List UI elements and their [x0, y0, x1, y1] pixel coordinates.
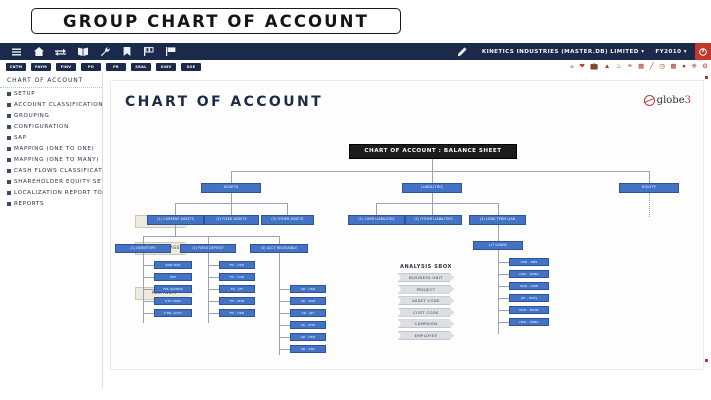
- app-root: GROUP CHART OF ACCOUNT: [0, 0, 711, 400]
- bullet-square-icon: [7, 136, 11, 140]
- sidebar-item-setup[interactable]: SETUP: [0, 88, 102, 99]
- sidebar-item-configuration[interactable]: CONFIGURATION: [0, 121, 102, 132]
- node-long-term-liab[interactable]: (3) LONG TERM LIAB: [469, 215, 526, 225]
- connector: [143, 253, 144, 261]
- connector: [143, 236, 144, 244]
- connector: [208, 236, 209, 244]
- grid-icon[interactable]: ▦: [638, 64, 644, 71]
- node-ar-myr[interactable]: AR - MYR: [290, 321, 326, 329]
- module-tab-paym[interactable]: PAYM: [31, 63, 51, 72]
- connector: [287, 203, 288, 215]
- connector: [208, 265, 219, 266]
- bullet-square-icon: [7, 125, 11, 129]
- analysis-chip-campaign[interactable]: CAMPAIGN: [398, 319, 454, 328]
- connector-dotted: [649, 193, 650, 217]
- node-fd-jpy[interactable]: FD - JPY: [219, 285, 255, 293]
- analysis-chip-asset-code[interactable]: ASSET CODE: [398, 296, 454, 305]
- sidebar-item-grouping[interactable]: GROUPING: [0, 110, 102, 121]
- sidebar-item-account-classification[interactable]: ACCOUNT CLASSIFICATION: [0, 99, 102, 110]
- node-fd-myr[interactable]: FD - MYR: [219, 297, 255, 305]
- bullet-square-icon: [7, 114, 11, 118]
- connector: [432, 171, 433, 183]
- node-ctrl-acct[interactable]: CTRL ACCT: [154, 309, 192, 317]
- connector: [231, 171, 232, 183]
- home-icon[interactable]: [33, 46, 44, 57]
- bullet-square-icon: [7, 158, 11, 162]
- connector: [279, 325, 290, 326]
- node-acct-receivable[interactable]: (3) ACCT RECEIVABLE: [250, 244, 308, 253]
- connector: [498, 250, 499, 258]
- node-hkd-hsbc[interactable]: HKD - HSBC: [509, 318, 549, 326]
- wrench-icon[interactable]: [99, 46, 110, 57]
- tree-icon[interactable]: ▲: [604, 64, 610, 71]
- bullet-square-icon: [7, 180, 11, 184]
- sidebar-item-label: LOCALIZATION REPORT TOOL: [14, 190, 102, 196]
- sidebar-item-label: SETUP: [14, 91, 35, 97]
- link-icon[interactable]: ⚭: [627, 64, 632, 71]
- logo-word: globe: [657, 95, 685, 106]
- briefcase-icon[interactable]: 💼: [590, 64, 598, 71]
- node-fd-sgd[interactable]: FD - SGD: [219, 273, 255, 281]
- sidebar-item-mapping-one-to-one[interactable]: MAPPING (ONE TO ONE): [0, 143, 102, 154]
- node-wip[interactable]: WIP: [154, 273, 192, 281]
- connector: [143, 301, 154, 302]
- connector: [208, 277, 219, 278]
- sidebar-item-label: SAP: [14, 135, 27, 141]
- page-banner: GROUP CHART OF ACCOUNT: [0, 0, 711, 42]
- connector: [279, 285, 280, 355]
- bullet-square-icon: [7, 169, 11, 173]
- node-lt-loans[interactable]: L/T LOANS: [473, 241, 523, 250]
- flag-icon[interactable]: [165, 46, 176, 57]
- node-sgd-uob[interactable]: SGD - UOB: [509, 282, 549, 290]
- connector: [498, 203, 499, 215]
- logo-text: globe3: [657, 95, 691, 106]
- analysis-sbox-panel: ANALYSIS SBOX BUSINESS UNIT PROJECT ASSE…: [398, 264, 454, 343]
- quick-tool-icon-row: ◆ ❤ 💼 ▲ ♨ ⚭ ▦ ╱ ◷ ▦ ● ⎈ ⚙: [570, 61, 708, 73]
- connector: [279, 337, 290, 338]
- node-fd-usd[interactable]: FD - USD: [219, 261, 255, 269]
- sidebar-item-reports[interactable]: REPORTS: [0, 198, 102, 209]
- sidebar-title: CHART OF ACCOUNT: [0, 73, 102, 88]
- sidebar-item-shareholder-equity-setup[interactable]: SHAREHOLDER EQUITY SETUP: [0, 176, 102, 187]
- module-tab-cntm[interactable]: CNTM: [6, 63, 26, 72]
- chart-canvas: CHART OF ACCOUNT globe3 ACCT TYPE ACCT C…: [110, 80, 704, 370]
- analysis-chip-cost-code[interactable]: COST CODE: [398, 308, 454, 317]
- connector: [231, 171, 649, 172]
- company-name-text: KINETICS INDUSTRIES (MASTER.DB) LIMITED: [482, 49, 639, 55]
- top-navigation-bar: KINETICS INDUSTRIES (MASTER.DB) LIMITED …: [0, 43, 711, 60]
- chart-line-icon[interactable]: ╱: [650, 64, 654, 71]
- connector: [279, 301, 290, 302]
- power-logout-button[interactable]: [695, 43, 711, 60]
- bookmark-icon[interactable]: [121, 46, 132, 57]
- node-assets[interactable]: ASSETS: [201, 183, 261, 193]
- node-myr-mayb[interactable]: MYR - MAYB: [509, 306, 549, 314]
- connector: [498, 262, 509, 263]
- sidebar-item-label: MAPPING (ONE TO ONE): [14, 146, 94, 152]
- module-tab-sinv[interactable]: SINV: [156, 63, 176, 72]
- node-fixed-assets[interactable]: (2) FIXED ASSETS: [204, 215, 259, 225]
- node-fd-hkd[interactable]: FD - HKD: [219, 309, 255, 317]
- sidebar-item-label: GROUPING: [14, 113, 49, 119]
- connector: [498, 322, 509, 323]
- connector: [175, 225, 176, 236]
- node-liabilities[interactable]: LIABILITIES: [402, 183, 462, 193]
- connector: [498, 298, 509, 299]
- sidebar-item-label: CASH FLOWS CLASSIFICATIO: [14, 168, 102, 174]
- pin-icon[interactable]: ●: [682, 64, 686, 71]
- connector: [143, 236, 279, 237]
- connector: [432, 159, 433, 171]
- module-tab-finv[interactable]: FINV: [56, 63, 76, 72]
- connector: [432, 203, 433, 215]
- connector: [208, 253, 209, 261]
- analysis-sbox-title: ANALYSIS SBOX: [398, 264, 454, 270]
- book-icon[interactable]: [77, 46, 88, 57]
- connector: [279, 236, 280, 244]
- node-other-liabilities[interactable]: (2) OTHER LIABILITIES: [405, 215, 462, 225]
- connector: [498, 310, 509, 311]
- module-tab-soe[interactable]: SOE: [181, 63, 201, 72]
- fire-icon[interactable]: ♨: [616, 64, 622, 71]
- connector: [143, 313, 154, 314]
- sidebar-item-label: CONFIGURATION: [14, 124, 69, 130]
- analysis-chip-project[interactable]: PROJECT: [398, 285, 454, 294]
- chat-icon[interactable]: ⎈: [691, 64, 696, 71]
- left-sidebar: CHART OF ACCOUNT SETUP ACCOUNT CLASSIFIC…: [0, 73, 103, 388]
- logo-number: 3: [685, 95, 691, 106]
- node-inventory[interactable]: (1) INVENTORY: [115, 244, 171, 253]
- fiscal-year-text: FY2010: [655, 49, 681, 55]
- connector: [208, 313, 219, 314]
- bullet-square-icon: [7, 191, 11, 195]
- connector: [231, 203, 232, 215]
- connector: [279, 253, 280, 285]
- diamond-icon[interactable]: ◆: [570, 65, 574, 70]
- pencil-icon[interactable]: [457, 46, 468, 57]
- connector: [498, 286, 509, 287]
- node-fixed-deposit[interactable]: (2) FIXED DEPOSIT: [180, 244, 236, 253]
- flag-outline-icon[interactable]: [143, 46, 154, 57]
- node-ar-jpy[interactable]: AR - JPY: [290, 309, 326, 317]
- module-tab-po[interactable]: PO: [81, 63, 101, 72]
- connector: [432, 193, 433, 203]
- analysis-chip-business-unit[interactable]: BUSINESS UNIT: [398, 273, 454, 282]
- connector: [143, 277, 154, 278]
- sidebar-item-cash-flows-classification[interactable]: CASH FLOWS CLASSIFICATIO: [0, 165, 102, 176]
- node-equity[interactable]: EQUITY: [619, 183, 679, 193]
- sidebar-item-label: SHAREHOLDER EQUITY SETUP: [14, 179, 102, 185]
- connector: [498, 274, 509, 275]
- node-stk-adjm[interactable]: STK ADJM: [154, 297, 192, 305]
- sidebar-item-label: MAPPING (ONE TO MANY): [14, 157, 99, 163]
- node-ar-sgd[interactable]: AR - SGD: [290, 297, 326, 305]
- node-raw-mat[interactable]: RAW MAT: [154, 261, 192, 269]
- globe3-logo: globe3: [644, 95, 691, 106]
- bullet-square-icon: [7, 147, 11, 151]
- sidebar-item-sap[interactable]: SAP: [0, 132, 102, 143]
- node-balance-sheet-root[interactable]: CHART OF ACCOUNT : BALANCE SHEET: [349, 144, 517, 159]
- connector: [208, 301, 219, 302]
- transfer-icon[interactable]: [55, 46, 66, 57]
- connector: [376, 203, 498, 204]
- module-tab-sral[interactable]: SRAL: [131, 63, 151, 72]
- scroll-marker[interactable]: [705, 76, 708, 79]
- connector: [208, 289, 219, 290]
- connector: [376, 203, 377, 215]
- gear-icon[interactable]: ⚙: [702, 64, 708, 71]
- node-ar-hkd[interactable]: AR - HKD: [290, 333, 326, 341]
- menu-icon[interactable]: [11, 46, 22, 57]
- node-usd-dbs[interactable]: USD - DBS: [509, 258, 549, 266]
- analysis-chip-employee[interactable]: EMPLOYEE: [398, 331, 454, 340]
- banner-frame: GROUP CHART OF ACCOUNT: [31, 8, 401, 34]
- module-tab-pr[interactable]: PR: [106, 63, 126, 72]
- heart-icon[interactable]: ❤: [579, 64, 584, 71]
- connector: [279, 313, 290, 314]
- node-jpy-mufj[interactable]: JPY - MUFJ: [509, 294, 549, 302]
- node-usd-ocbc[interactable]: USD - OCBC: [509, 270, 549, 278]
- connector: [498, 225, 499, 241]
- node-current-assets[interactable]: (1) CURRENT ASSETS: [147, 215, 204, 225]
- company-name-label[interactable]: KINETICS INDUSTRIES (MASTER.DB) LIMITED …: [482, 49, 645, 55]
- connector: [649, 171, 650, 183]
- sidebar-item-label: REPORTS: [14, 201, 44, 207]
- connector: [279, 349, 290, 350]
- globe-icon: [644, 95, 655, 106]
- connector: [231, 193, 232, 203]
- sidebar-item-label: ACCOUNT CLASSIFICATION: [14, 102, 102, 108]
- node-fin-goods[interactable]: FIN./GOODS: [154, 285, 192, 293]
- sidebar-item-mapping-one-to-many[interactable]: MAPPING (ONE TO MANY): [0, 154, 102, 165]
- node-ar-cny[interactable]: AR - CNY: [290, 345, 326, 353]
- sidebar-item-localization-report-tool[interactable]: LOCALIZATION REPORT TOOL: [0, 187, 102, 198]
- node-ar-usd[interactable]: AR - USD: [290, 285, 326, 293]
- bullet-square-icon: [7, 103, 11, 107]
- clock-icon[interactable]: ◷: [659, 64, 665, 71]
- bullet-square-icon: [7, 92, 11, 96]
- connector: [279, 289, 290, 290]
- node-other-assets[interactable]: (3) OTHER ASSETS: [261, 215, 314, 225]
- calendar-icon[interactable]: ▦: [670, 64, 676, 71]
- fiscal-year-caret-icon: ▾: [684, 49, 687, 55]
- banner-title: GROUP CHART OF ACCOUNT: [63, 12, 369, 31]
- connector: [143, 289, 154, 290]
- page-title: CHART OF ACCOUNT: [125, 94, 323, 110]
- fiscal-year-label[interactable]: FY2010 ▾: [655, 49, 687, 55]
- scroll-marker[interactable]: [705, 359, 708, 362]
- connector: [143, 265, 154, 266]
- company-caret-icon: ▾: [641, 49, 644, 55]
- node-curr-liabilities[interactable]: (1) CURR LIABILITIES: [348, 215, 405, 225]
- bullet-square-icon: [7, 202, 11, 206]
- connector: [175, 203, 176, 215]
